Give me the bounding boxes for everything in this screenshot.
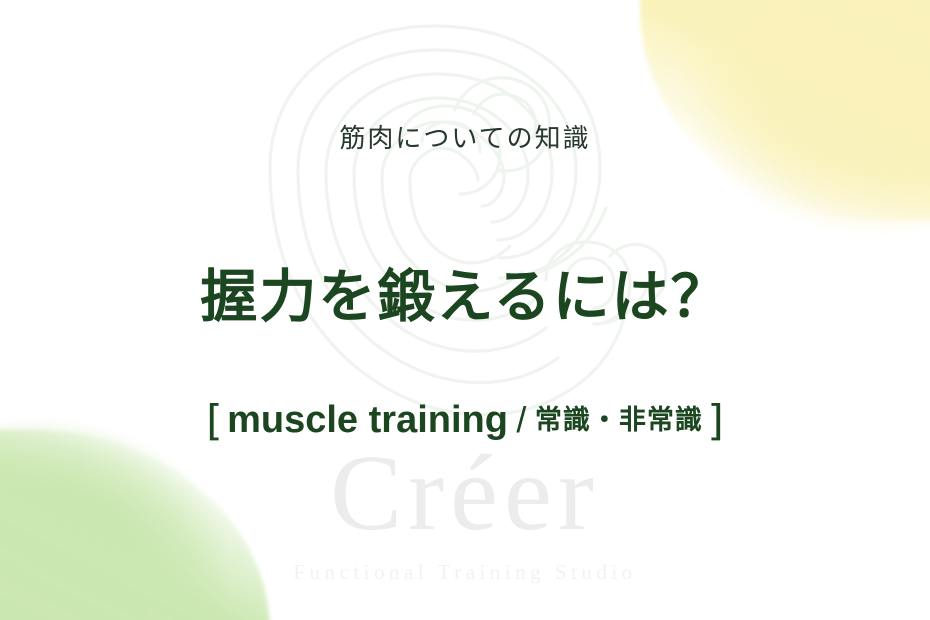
slide-canvas: Créer Functional Training Studio 筋肉についての… (0, 0, 930, 620)
bracket-open: [ (206, 396, 222, 445)
logo-wordmark: Créer (0, 440, 930, 548)
tagline-separator: / (512, 399, 530, 440)
yellow-splash-decoration-inner (640, 0, 930, 220)
tagline-row: [ muscle training / 常識・非常識 ] (0, 396, 930, 445)
tagline-japanese: 常識・非常識 (535, 405, 703, 436)
logo-watermark: Créer Functional Training Studio (0, 440, 930, 585)
eyebrow-text: 筋肉についての知識 (0, 118, 930, 155)
green-splash-decoration (0, 327, 324, 620)
tagline-latin: muscle training (227, 399, 508, 441)
wave-watermark-icon (250, 18, 680, 438)
bracket-close: ] (707, 396, 723, 445)
green-splash-decoration-inner (0, 430, 270, 620)
page-title: 握力を鍛えるには？ (0, 251, 930, 333)
logo-tagline: Functional Training Studio (0, 560, 930, 585)
